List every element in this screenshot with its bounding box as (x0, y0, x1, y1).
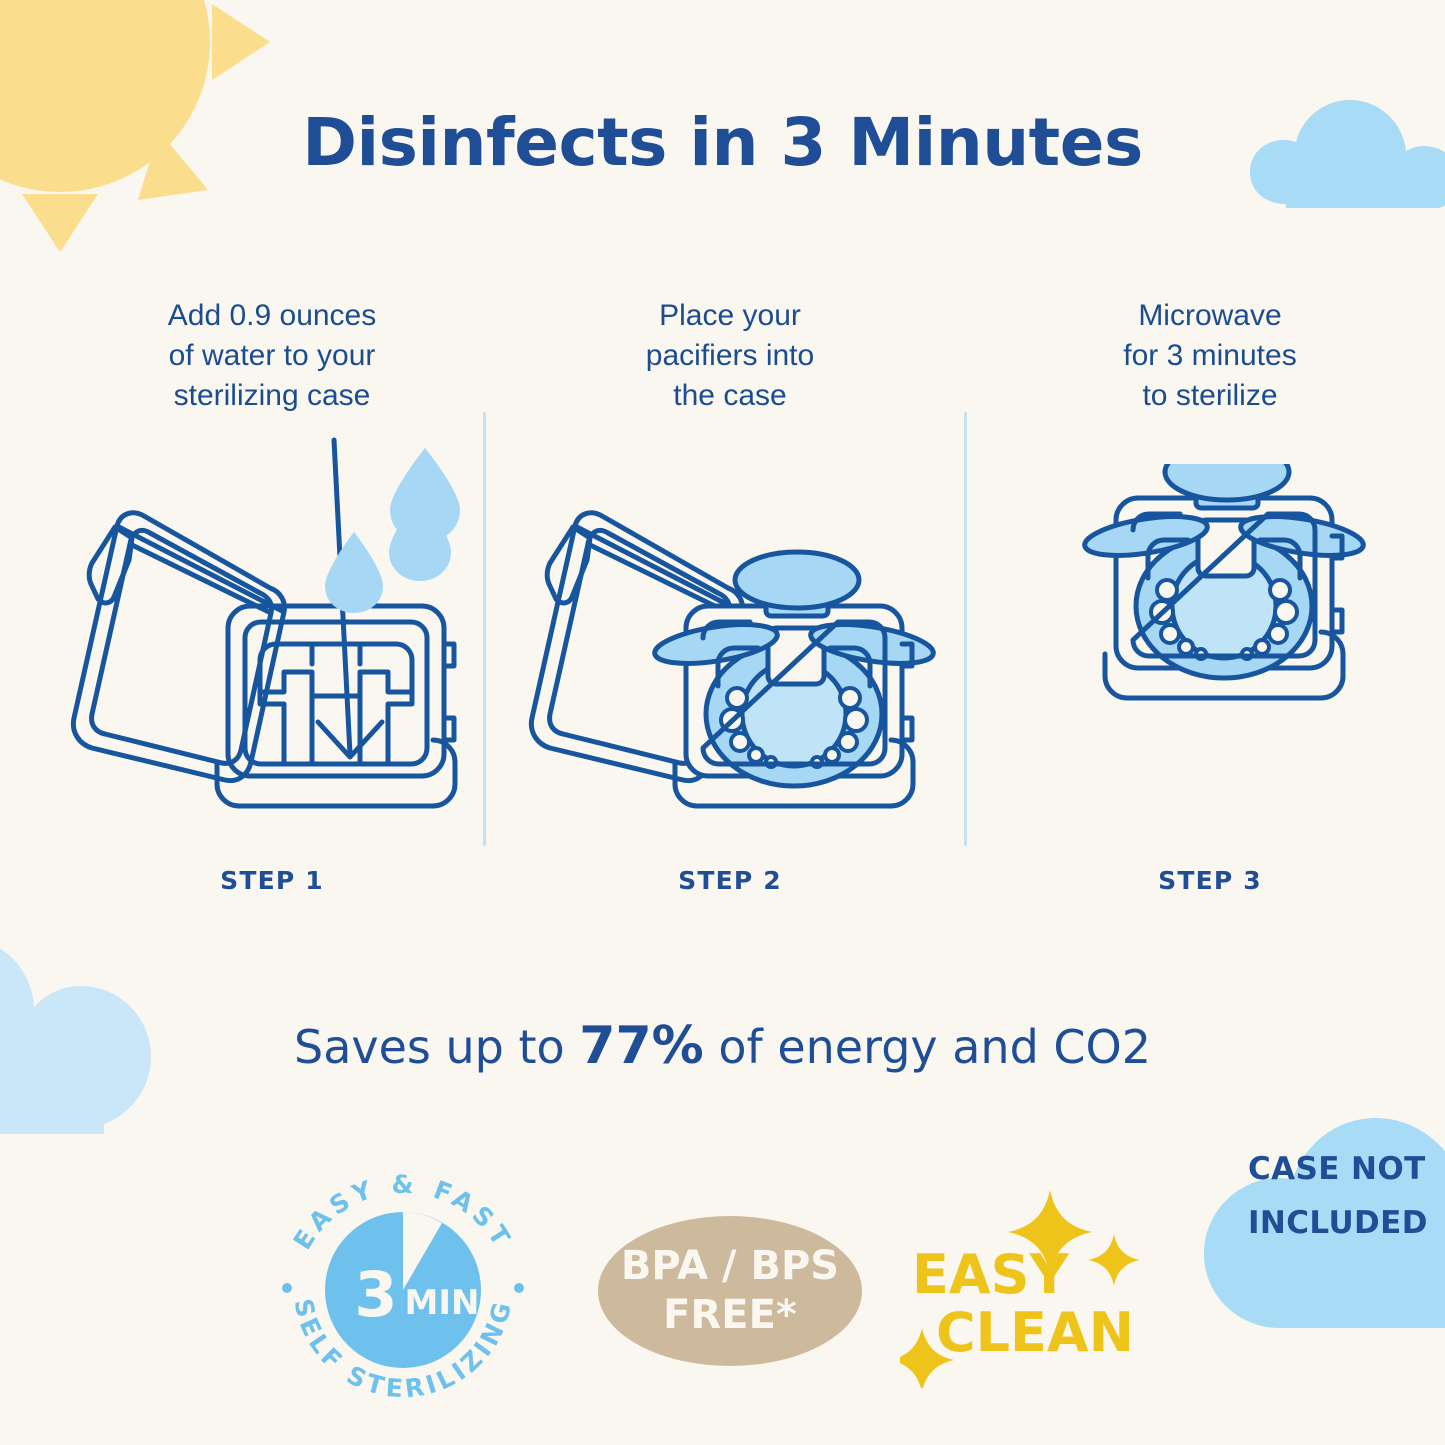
step-1-caption-line-2: of water to your (62, 336, 482, 376)
savings-prefix: Saves up to (294, 1020, 579, 1074)
column-divider-1 (483, 412, 486, 846)
badge-minutes-unit: MIN (405, 1283, 480, 1323)
easy-clean-line-2: CLEAN (900, 1304, 1170, 1362)
badge-self-sterilizing: 3 MIN EASY & FAST SELF STERILIZING (272, 1168, 534, 1404)
badge-minutes-number: 3 (354, 1258, 397, 1331)
step-3-caption-line-2: for 3 minutes (1000, 336, 1420, 376)
step-1-caption-line-1: Add 0.9 ounces (62, 296, 482, 336)
badge-bpa-free: BPA / BPS FREE* (598, 1216, 862, 1366)
step-2-caption-line-1: Place your (520, 296, 940, 336)
badge-ring-dot-left (282, 1283, 292, 1293)
step-3-caption: Microwave for 3 minutes to sterilize (1000, 296, 1420, 416)
step-2-caption: Place your pacifiers into the case (520, 296, 940, 416)
step-2-caption-line-3: the case (520, 376, 940, 416)
water-drop-group (325, 448, 460, 613)
step-2-illustration (520, 432, 940, 832)
step-3-label: STEP 3 (1000, 866, 1420, 895)
savings-statement: Saves up to 77% of energy and CO2 (0, 1016, 1445, 1076)
badge-ring-dot-right (514, 1283, 524, 1293)
case-not-included-note: CASE NOT INCLUDED (1248, 1142, 1445, 1250)
step-1-label: STEP 1 (62, 866, 482, 895)
step-3-illustration (1000, 464, 1420, 864)
step-3-caption-line-1: Microwave (1000, 296, 1420, 336)
case-note-line-1: CASE NOT (1248, 1142, 1445, 1196)
savings-suffix: of energy and CO2 (704, 1020, 1151, 1074)
badge-easy-clean: EASY CLEAN (900, 1188, 1170, 1388)
step-3-caption-line-3: to sterilize (1000, 376, 1420, 416)
bpa-line-2: FREE* (663, 1291, 797, 1340)
savings-highlight: 77% (579, 1016, 703, 1076)
step-1-column: Add 0.9 ounces of water to your steriliz… (62, 296, 482, 832)
column-divider-2 (964, 412, 967, 846)
step-1-caption: Add 0.9 ounces of water to your steriliz… (62, 296, 482, 416)
bpa-line-1: BPA / BPS (621, 1242, 839, 1291)
page-title: Disinfects in 3 Minutes (0, 104, 1445, 181)
step-2-column: Place your pacifiers into the case (520, 296, 940, 832)
step-1-illustration (62, 432, 482, 832)
infographic-canvas: Disinfects in 3 Minutes Add 0.9 ounces o… (0, 0, 1445, 1445)
step-2-caption-line-2: pacifiers into (520, 336, 940, 376)
step-2-label: STEP 2 (520, 866, 940, 895)
easy-clean-line-1: EASY (900, 1246, 1170, 1304)
case-note-line-2: INCLUDED (1248, 1196, 1445, 1250)
step-3-column: Microwave for 3 minutes to sterilize (1000, 296, 1420, 864)
step-1-caption-line-3: sterilizing case (62, 376, 482, 416)
